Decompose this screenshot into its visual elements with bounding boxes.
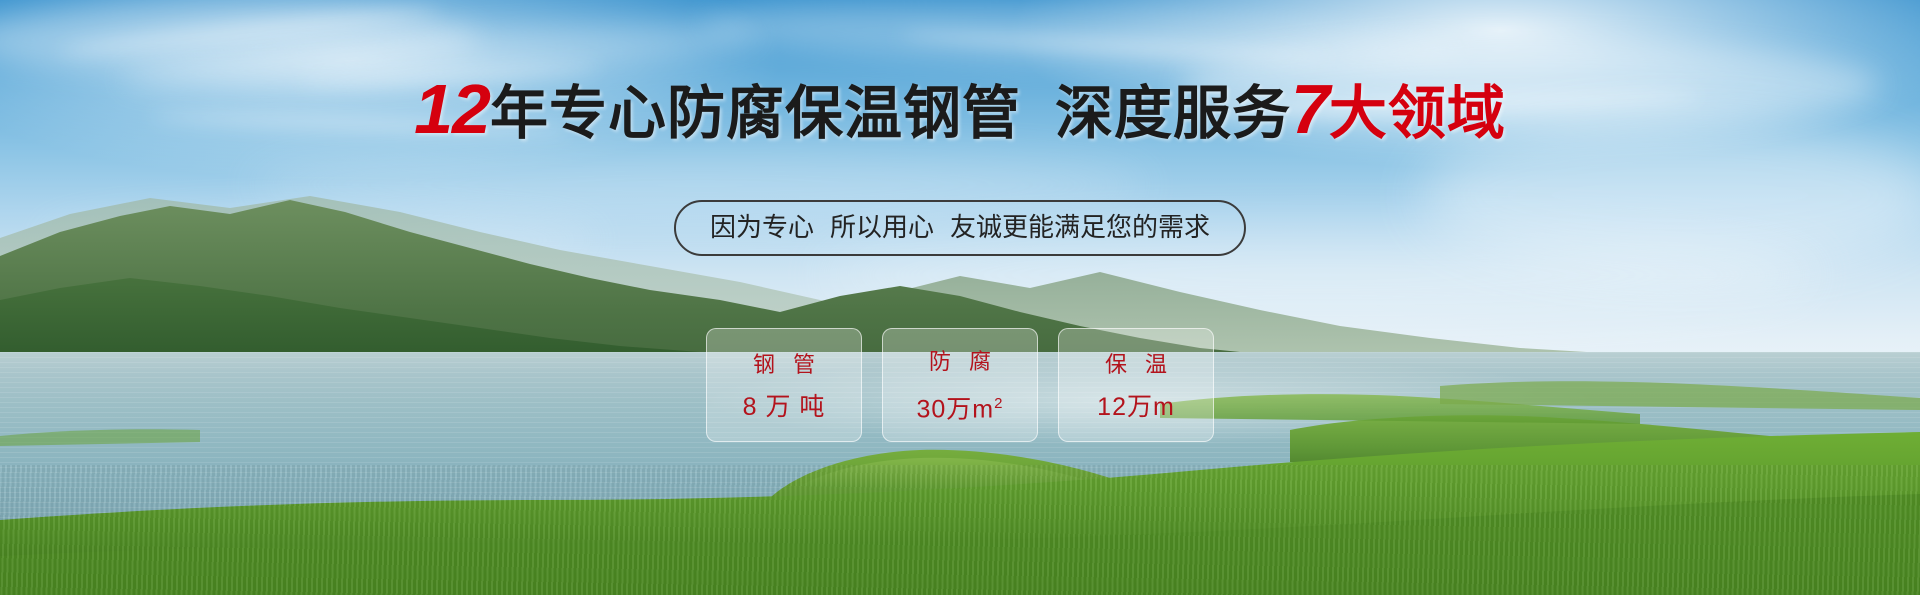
subtitle-pill: 因为专心所以用心友诚更能满足您的需求	[674, 200, 1246, 256]
stat-card-value: 8 万 吨	[743, 392, 826, 422]
stat-card-value-unit-exponent: 2	[994, 395, 1003, 412]
promo-banner: 12年专心防腐保温钢管深度服务7大领域 因为专心所以用心友诚更能满足您的需求 钢…	[0, 0, 1920, 595]
stat-card-value-text: 12万m	[1097, 393, 1175, 421]
headline-part-one: 年专心防腐保温钢管	[490, 81, 1021, 146]
stat-card-label: 钢 管	[747, 348, 821, 382]
stats-card-group: 钢 管 8 万 吨 防 腐 30万m2 保 温 12万m	[706, 328, 1214, 442]
stat-card-value-text: 8 万 吨	[743, 393, 826, 421]
subtitle-segment-2: 所以用心	[830, 212, 934, 242]
headline-years-number: 12	[414, 70, 490, 148]
headline-part-two: 深度服务	[1055, 81, 1291, 146]
stat-card-value: 30万m2	[917, 389, 1004, 424]
headline-da: 大领域	[1329, 81, 1506, 146]
stat-card-value-text: 30万m	[917, 396, 995, 424]
stat-card-anticorrosion[interactable]: 防 腐 30万m2	[882, 328, 1038, 442]
stat-card-value: 12万m	[1097, 392, 1175, 422]
stat-card-steel-pipe[interactable]: 钢 管 8 万 吨	[706, 328, 862, 442]
stat-card-label: 保 温	[1099, 348, 1173, 382]
stat-card-label: 防 腐	[923, 345, 997, 379]
stat-card-insulation[interactable]: 保 温 12万m	[1058, 328, 1214, 442]
page-title: 12年专心防腐保温钢管深度服务7大领域	[0, 76, 1920, 147]
headline-fields-number: 7	[1291, 70, 1329, 148]
subtitle-segment-1: 因为专心	[710, 212, 814, 242]
banner-content: 12年专心防腐保温钢管深度服务7大领域 因为专心所以用心友诚更能满足您的需求 钢…	[0, 0, 1920, 595]
subtitle-segment-3: 友诚更能满足您的需求	[950, 212, 1210, 242]
